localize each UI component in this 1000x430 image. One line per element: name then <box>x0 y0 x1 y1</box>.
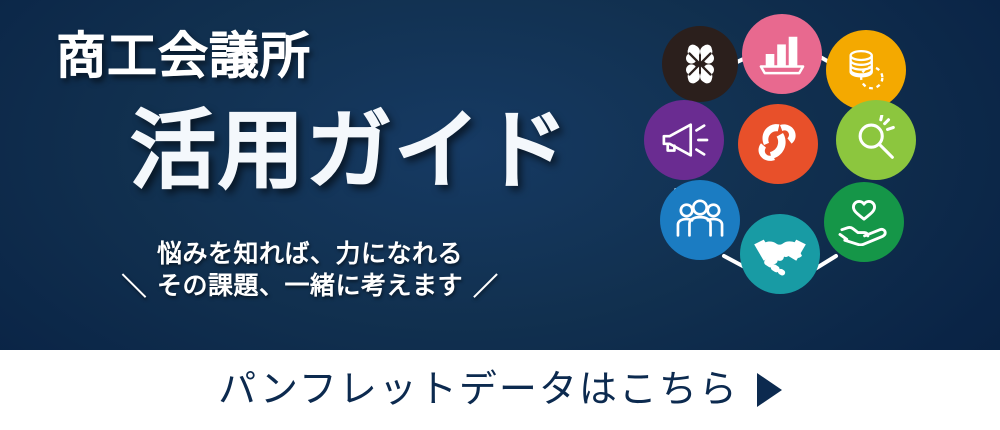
pamphlet-cta-link[interactable]: パンフレットデータはこちら <box>0 350 1000 430</box>
icon-bubble-bar-chart[interactable] <box>742 14 822 94</box>
banner-main-headline: 活用ガイド <box>130 108 570 194</box>
icon-bubble-people[interactable] <box>660 180 740 260</box>
hero-section: 商工会議所 活用ガイド 悩みを知れば、力になれる ＼その課題、一緒に考えます／ <box>0 0 1000 350</box>
people-icon <box>674 197 726 243</box>
icon-cluster <box>640 8 940 328</box>
banner-kicker-title: 商工会議所 <box>56 31 311 81</box>
handshake-icon <box>752 232 808 276</box>
tagline-block: 悩みを知れば、力になれる ＼その課題、一緒に考えます／ <box>0 238 620 302</box>
magnifier-icon <box>851 115 901 165</box>
clover-icon <box>677 41 723 87</box>
heart-hand-icon <box>837 198 891 246</box>
icon-bubble-megaphone[interactable] <box>644 100 724 180</box>
hero-text-block: 商工会議所 活用ガイド 悩みを知れば、力になれる ＼その課題、一緒に考えます／ <box>0 0 620 350</box>
tools-icon <box>753 119 803 169</box>
icon-bubble-heart-hand[interactable] <box>824 182 904 262</box>
coins-icon <box>841 45 891 95</box>
icon-bubble-tools[interactable] <box>738 104 818 184</box>
icon-bubble-clover[interactable] <box>662 26 738 102</box>
tagline-line-1: 悩みを知れば、力になれる <box>0 238 620 270</box>
icon-bubble-magnifier[interactable] <box>836 100 916 180</box>
slash-left-decoration: ＼ <box>111 271 157 303</box>
tagline-line-2: その課題、一緒に考えます <box>157 272 463 300</box>
play-triangle-icon <box>757 373 782 407</box>
tagline-line-2-wrapper: ＼その課題、一緒に考えます／ <box>0 270 620 302</box>
icon-bubble-handshake[interactable] <box>740 214 820 294</box>
bar-chart-icon <box>757 31 807 77</box>
slash-right-decoration: ／ <box>463 271 509 303</box>
megaphone-icon <box>658 117 710 163</box>
cta-label: パンフレットデータはこちら <box>218 371 739 409</box>
pamphlet-banner: 商工会議所 活用ガイド 悩みを知れば、力になれる ＼その課題、一緒に考えます／ <box>0 0 1000 430</box>
icon-bubble-coins[interactable] <box>826 30 906 110</box>
